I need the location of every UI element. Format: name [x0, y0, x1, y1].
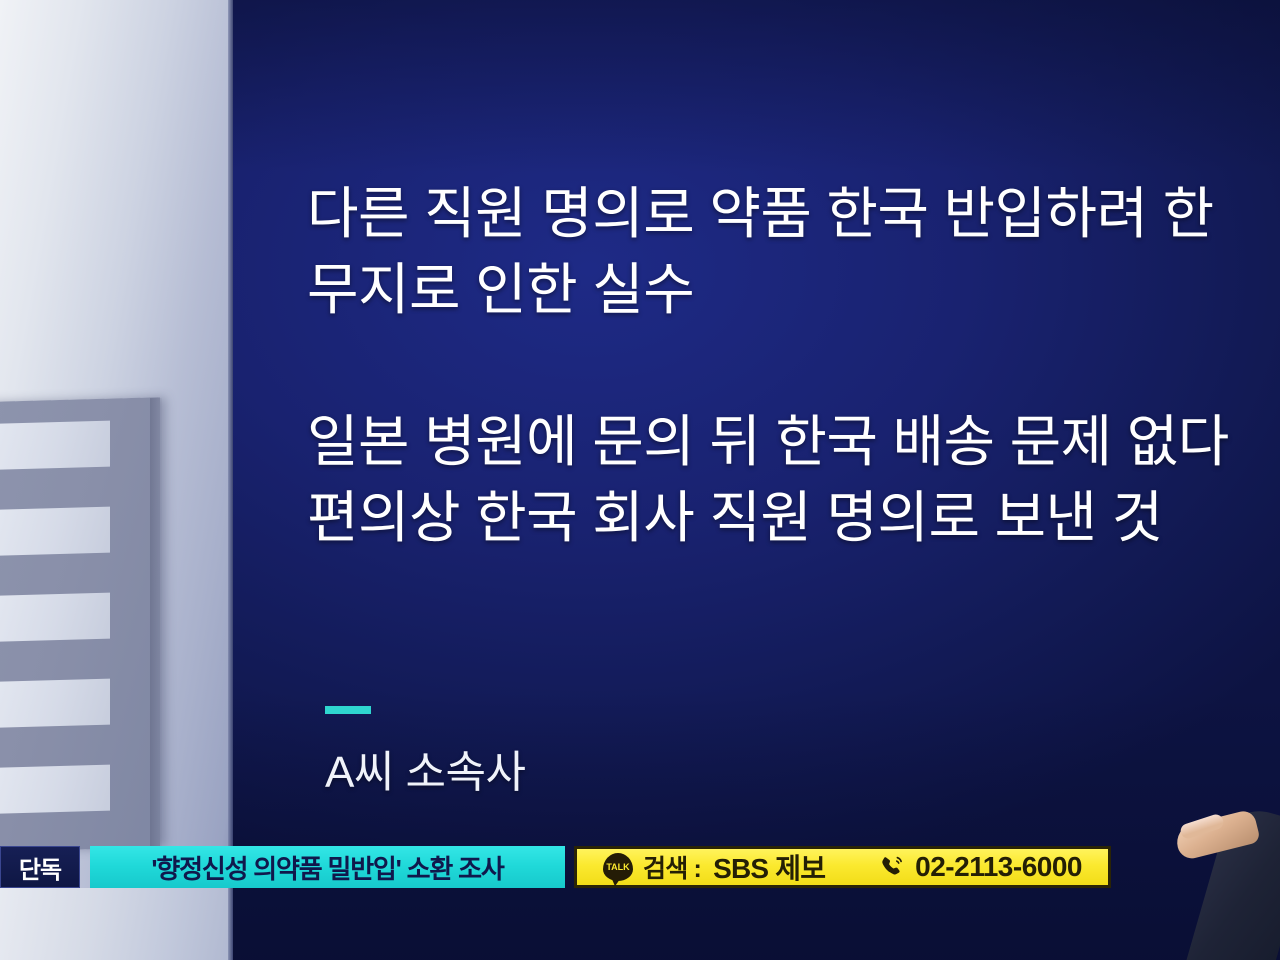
promo-bar: TALK 검색 : SBS 제보 02-2113-6000 — [574, 846, 1111, 888]
building-window — [0, 679, 110, 728]
building-backdrop — [0, 0, 233, 960]
building-base — [0, 888, 233, 960]
quote-line-3: 일본 병원에 문의 뒤 한국 배송 문제 없다 — [307, 404, 1280, 480]
lower-third-banner: 단독 '향정신성 의약품 밀반입' 소환 조사 TALK 검색 : SBS 제보… — [0, 846, 1111, 888]
building-window — [0, 421, 110, 470]
building-window — [0, 507, 110, 556]
phone-icon — [879, 854, 905, 880]
building-window — [0, 765, 110, 814]
attribution-text: A씨 소속사 — [325, 736, 526, 800]
attribution-dash-icon — [325, 706, 371, 714]
news-broadcast-frame: 다른 직원 명의로 약품 한국 반입하려 한 무지로 인한 실수 일본 병원에 … — [0, 0, 1280, 960]
exclusive-badge: 단독 — [0, 846, 80, 888]
kakaotalk-icon: TALK — [603, 853, 633, 881]
quote-paragraph-gap — [307, 328, 1280, 404]
promo-search-label: 검색 : — [643, 849, 701, 885]
headline-bar: '향정신성 의약품 밀반입' 소환 조사 — [90, 846, 565, 888]
building-window — [0, 593, 110, 642]
promo-phone-number: 02-2113-6000 — [915, 851, 1082, 883]
building-shadow — [150, 398, 162, 854]
quote-line-2: 무지로 인한 실수 — [307, 252, 1280, 328]
quote-line-4: 편의상 한국 회사 직원 명의로 보낸 것 — [307, 480, 1280, 556]
quote-attribution: A씨 소속사 — [325, 706, 526, 800]
building-edge — [228, 0, 233, 960]
building-window-panel — [0, 397, 160, 853]
promo-brand-label: SBS 제보 — [713, 847, 825, 887]
quote-line-1: 다른 직원 명의로 약품 한국 반입하려 한 — [307, 176, 1280, 252]
quote-block: 다른 직원 명의로 약품 한국 반입하려 한 무지로 인한 실수 일본 병원에 … — [307, 176, 1280, 557]
